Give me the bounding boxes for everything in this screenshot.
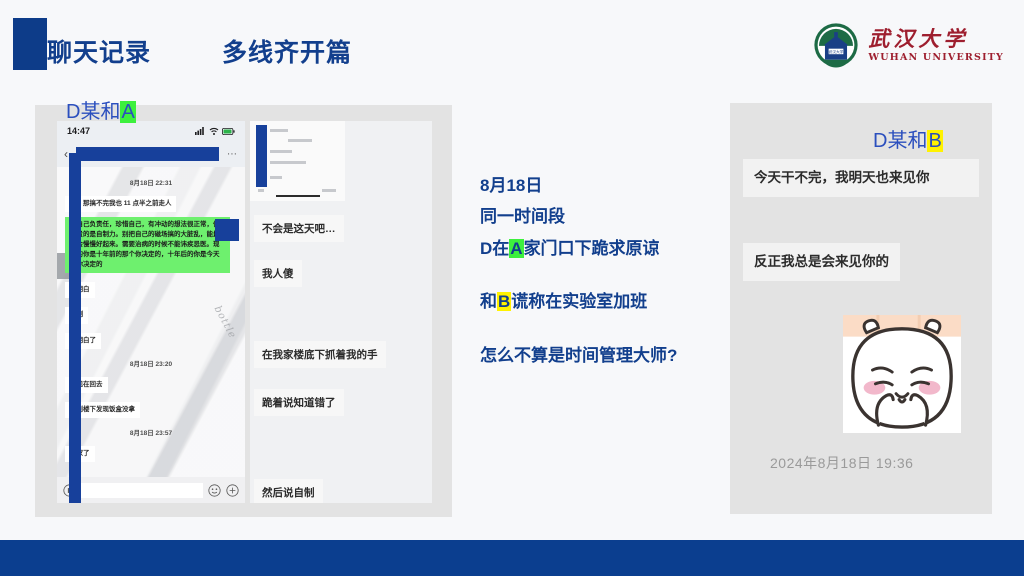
slide-canvas: 聊天记录 多线齐开篇 武汉大学 武汉大学 WUHAN UNIVERSITY D某… [0, 0, 1024, 576]
left-title-highlight: A [120, 101, 135, 123]
thumbnail-redaction [256, 125, 267, 187]
chat-bubble: 好，那搞不完我也 11 点半之前走人 [65, 196, 176, 212]
crying-bear-sticker [843, 315, 961, 433]
phone-input-bar[interactable] [57, 477, 245, 503]
wifi-icon [209, 127, 219, 135]
thumbnail-text-line [270, 176, 282, 179]
wuhan-university-seal-icon: 武汉大学 [813, 22, 859, 68]
chat-timestamp: 8月18日 22:31 [65, 177, 237, 187]
text-segment: 同一时间段 [480, 207, 565, 226]
message-input-field[interactable] [81, 483, 203, 498]
text-segment: 谎称在实验室加班 [511, 292, 647, 311]
right-title-prefix: D某和 [873, 130, 927, 152]
chat-bubble: 反正我总是会来见你的 [743, 243, 900, 281]
highlight-green: A [509, 239, 523, 258]
text-segment: 和 [480, 292, 497, 311]
center-line: D在A家门口下跪求原谅 [480, 233, 730, 264]
svg-text:武汉大学: 武汉大学 [829, 49, 844, 54]
add-attachment-icon[interactable] [226, 484, 239, 497]
phone-screenshot-a: 14:47 [57, 121, 245, 503]
right-title-highlight: B [927, 130, 942, 152]
chat-bubble-highlight: 对自己负责任，珍惜自己，有冲动的想法很正常，但宝贵的是自制力。别把自己的磁场搞的… [65, 217, 230, 273]
chat-bubble: 不会是这天吧… [254, 215, 344, 242]
page-subtitle: 多线齐开篇 [222, 33, 352, 69]
logo-name-cn: 武汉大学 [868, 28, 968, 49]
right-panel-timestamp: 2024年8月18日 19:36 [770, 453, 913, 473]
signal-icon [195, 127, 206, 135]
center-paragraph: 8月18日同一时间段D在A家门口下跪求原谅 [480, 170, 730, 264]
text-segment: 家门口下跪求原谅 [524, 239, 660, 258]
center-paragraph: 和B谎称在实验室加班 [480, 286, 730, 317]
phone-chat-body: bottle 8月18日 22:31 好，那搞不完我也 11 点半之前走人 对自… [57, 167, 245, 477]
text-segment: 怎么不算是时间管理大师? [480, 346, 677, 365]
battery-icon [222, 128, 235, 135]
phone-nav-bar: ‹ ⋯ [57, 141, 245, 167]
chat-timestamp: 8月18日 23:20 [65, 358, 237, 368]
chat-bubble: 然后说自制 [254, 479, 323, 503]
thumbnail-text-line [288, 139, 312, 142]
chat-bubble: 跪着说知道错了 [254, 389, 344, 416]
header-accent-block [13, 18, 47, 70]
left-panel-title: D某和A [66, 95, 136, 124]
center-annotation-text: 8月18日同一时间段D在A家门口下跪求原谅和B谎称在实验室加班怎么不算是时间管理… [480, 170, 730, 371]
text-segment: D在 [480, 239, 509, 258]
chat-bubble: 我人傻 [254, 260, 302, 287]
center-line: 怎么不算是时间管理大师? [480, 340, 730, 371]
phone-clock: 14:47 [67, 126, 90, 136]
center-paragraph: 怎么不算是时间管理大师? [480, 340, 730, 371]
avatar-right-redaction [215, 219, 239, 241]
more-options-icon[interactable]: ⋯ [227, 149, 238, 160]
left-title-prefix: D某和 [66, 101, 120, 123]
page-title: 聊天记录 [47, 33, 151, 69]
chat-timestamp: 8月18日 23:57 [65, 427, 237, 437]
thumbnail-icon-line [258, 189, 264, 192]
back-icon[interactable]: ‹ [64, 147, 68, 161]
left-chat-panel: 14:47 [35, 105, 452, 517]
phone-status-icons [195, 127, 235, 135]
logo-name-en: WUHAN UNIVERSITY [868, 53, 1004, 63]
contact-name-redaction [76, 147, 219, 161]
chat-image-thumbnail[interactable] [250, 121, 345, 201]
thumbnail-text-line [270, 129, 288, 132]
center-line: 同一时间段 [480, 201, 730, 232]
center-line: 8月18日 [480, 170, 730, 201]
emoji-icon[interactable] [208, 484, 221, 497]
university-logo: 武汉大学 武汉大学 WUHAN UNIVERSITY [813, 22, 1004, 68]
phone-status-bar: 14:47 [57, 121, 245, 141]
thumbnail-text-line [270, 161, 306, 164]
right-panel-title: D某和B [873, 124, 943, 153]
logo-text-block: 武汉大学 WUHAN UNIVERSITY [868, 28, 1004, 63]
thumbnail-home-bar [276, 195, 320, 197]
thumbnail-icon-line [322, 189, 336, 192]
text-segment: 8月18日 [480, 176, 542, 195]
chat-bubble: 今天干不完，我明天也来见你 [743, 159, 979, 197]
crying-bear-sticker-icon [843, 315, 961, 433]
chat-bubble: 在我家楼底下抓着我的手 [254, 341, 386, 368]
highlight-yellow: B [497, 292, 511, 311]
footer-bar [0, 540, 1024, 576]
middle-chat-column: 不会是这天吧… 我人傻 在我家楼底下抓着我的手 跪着说知道错了 然后说自制 [250, 121, 432, 503]
center-line: 和B谎称在实验室加班 [480, 286, 730, 317]
left-edge-redaction [69, 153, 81, 503]
thumbnail-text-line [270, 150, 292, 153]
